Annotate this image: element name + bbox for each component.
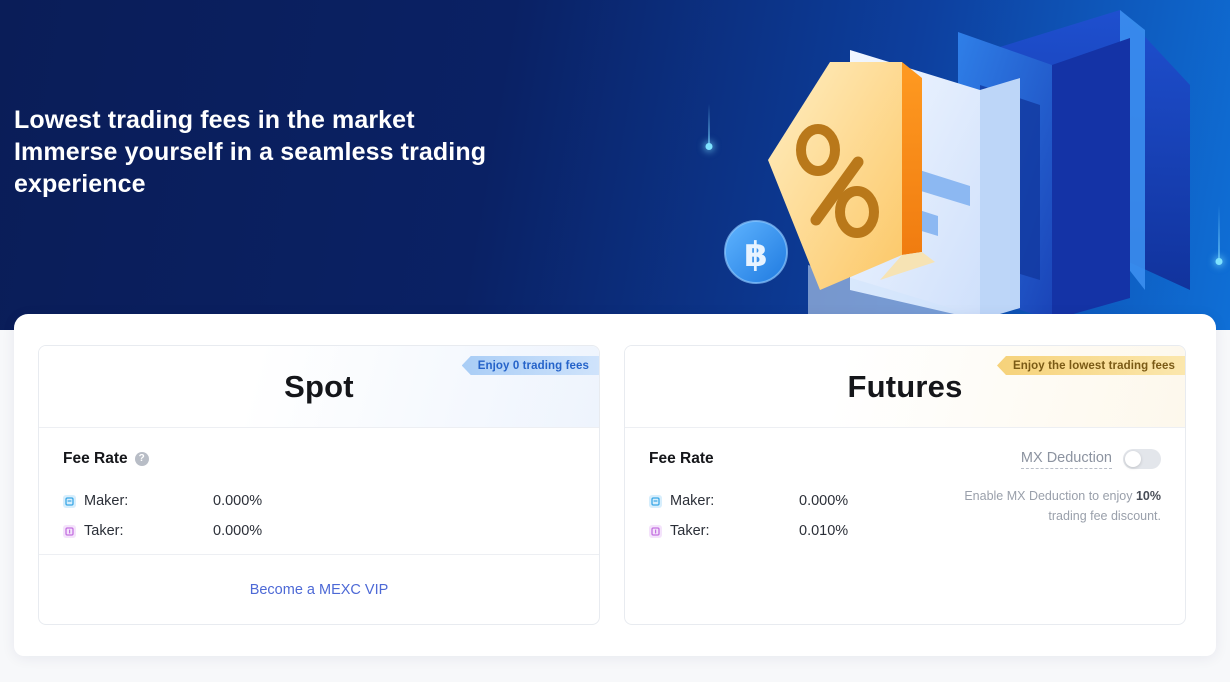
help-icon[interactable]: ? (135, 452, 149, 466)
maker-square-icon (63, 495, 76, 508)
spot-card-footer: Become a MEXC VIP (39, 554, 599, 624)
become-mexc-vip-link[interactable]: Become a MEXC VIP (250, 582, 389, 598)
futures-maker-label-group: Maker: (649, 493, 799, 509)
percent-discount-isometric-illustration: ฿ (690, 0, 1230, 330)
futures-card-footer-spacer (625, 554, 1185, 624)
spot-card-body: Fee Rate ? Maker: 0.000% (39, 428, 599, 554)
futures-fee-rate-label-group: Fee Rate (649, 450, 714, 468)
futures-ribbon-badge: Enjoy the lowest trading fees (997, 356, 1185, 375)
spot-ribbon-badge: Enjoy 0 trading fees (462, 356, 599, 375)
spot-maker-value: 0.000% (213, 493, 262, 509)
futures-fee-rate-row: Fee Rate MX Deduction (649, 448, 1161, 470)
fee-cards-panel: Spot Enjoy 0 trading fees Fee Rate ? (14, 314, 1216, 656)
spot-taker-value: 0.000% (213, 523, 262, 539)
spot-card-header: Spot Enjoy 0 trading fees (39, 346, 599, 428)
spot-taker-row: Taker: 0.000% (63, 516, 575, 546)
taker-square-icon (63, 525, 76, 538)
futures-fee-rate-label: Fee Rate (649, 450, 714, 468)
futures-taker-label-group: Taker: (649, 523, 799, 539)
futures-taker-label: Taker: (670, 523, 710, 539)
spot-taker-label: Taker: (84, 523, 124, 539)
hero-headline: Lowest trading fees in the market Immers… (14, 104, 486, 200)
comet-decoration-icon (1215, 205, 1223, 265)
mx-note-highlight: 10% (1136, 489, 1161, 503)
mx-note-prefix: Enable MX Deduction to enjoy (964, 489, 1136, 503)
mx-deduction-control: MX Deduction (1021, 449, 1161, 469)
futures-card-body: Fee Rate MX Deduction (625, 428, 1185, 554)
bitcoin-icon: ฿ (725, 221, 787, 283)
spot-taker-label-group: Taker: (63, 523, 213, 539)
spot-fee-card: Spot Enjoy 0 trading fees Fee Rate ? (38, 345, 600, 625)
comet-decoration-icon (705, 105, 713, 150)
spot-fee-rate-row: Fee Rate ? (63, 448, 575, 470)
spot-card-title: Spot (284, 369, 354, 405)
mx-note-suffix: trading fee discount. (1048, 509, 1161, 523)
mx-deduction-label[interactable]: MX Deduction (1021, 450, 1112, 469)
hero-banner: ฿ Lowest trading fees in the market Imme… (0, 0, 1230, 330)
spot-maker-label-group: Maker: (63, 493, 213, 509)
futures-card-header: Futures Enjoy the lowest trading fees (625, 346, 1185, 428)
spot-rates-list: Maker: 0.000% Taker: 0.000% (63, 486, 575, 546)
spot-fee-rate-label-group: Fee Rate ? (63, 450, 149, 468)
fee-cards-container: Spot Enjoy 0 trading fees Fee Rate ? (14, 314, 1216, 625)
taker-square-icon (649, 525, 662, 538)
svg-text:฿: ฿ (744, 235, 768, 275)
toggle-knob (1125, 451, 1141, 467)
futures-taker-value: 0.010% (799, 523, 848, 539)
mx-deduction-note: Enable MX Deduction to enjoy 10% trading… (946, 486, 1161, 526)
futures-fee-card: Futures Enjoy the lowest trading fees Fe… (624, 345, 1186, 625)
futures-card-title: Futures (847, 369, 962, 405)
mx-deduction-toggle[interactable] (1123, 449, 1161, 469)
fee-rate-page: ฿ Lowest trading fees in the market Imme… (0, 0, 1230, 682)
futures-maker-value: 0.000% (799, 493, 848, 509)
spot-maker-label: Maker: (84, 493, 128, 509)
spot-fee-rate-label: Fee Rate (63, 450, 128, 468)
futures-maker-label: Maker: (670, 493, 714, 509)
spot-maker-row: Maker: 0.000% (63, 486, 575, 516)
maker-square-icon (649, 495, 662, 508)
